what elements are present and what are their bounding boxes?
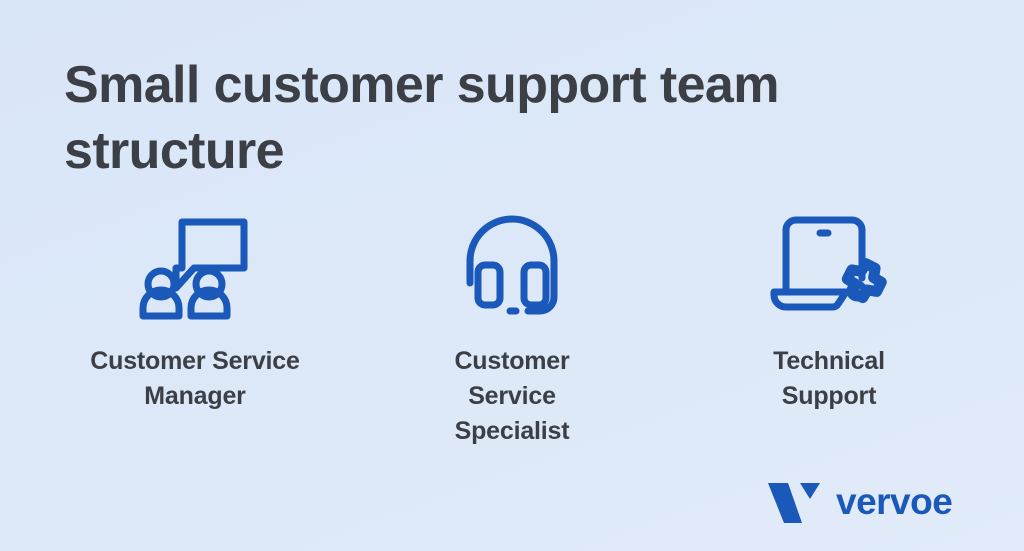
vervoe-v-mark — [766, 479, 822, 527]
svg-text:vervoe: vervoe — [836, 483, 952, 522]
vervoe-wordmark: vervoe — [836, 483, 976, 523]
role-column-technical-support: Technical Support — [671, 210, 988, 414]
headset-icon — [452, 210, 572, 322]
role-columns: Customer Service Manager Customer Se — [0, 210, 1024, 449]
laptop-gear-icon — [769, 210, 889, 322]
page-title: Small customer support team structure — [64, 52, 824, 184]
role-column-customer-service-manager: Customer Service Manager — [37, 210, 354, 414]
role-label: Customer Service Specialist — [422, 344, 602, 449]
people-speech-bubble-icon — [135, 210, 255, 322]
role-label: Technical Support — [734, 344, 924, 414]
role-label: Customer Service Manager — [70, 344, 320, 414]
slide-canvas: Small customer support team structure — [0, 0, 1024, 551]
vervoe-logo: vervoe — [766, 479, 976, 527]
role-column-customer-service-specialist: Customer Service Specialist — [354, 210, 671, 449]
